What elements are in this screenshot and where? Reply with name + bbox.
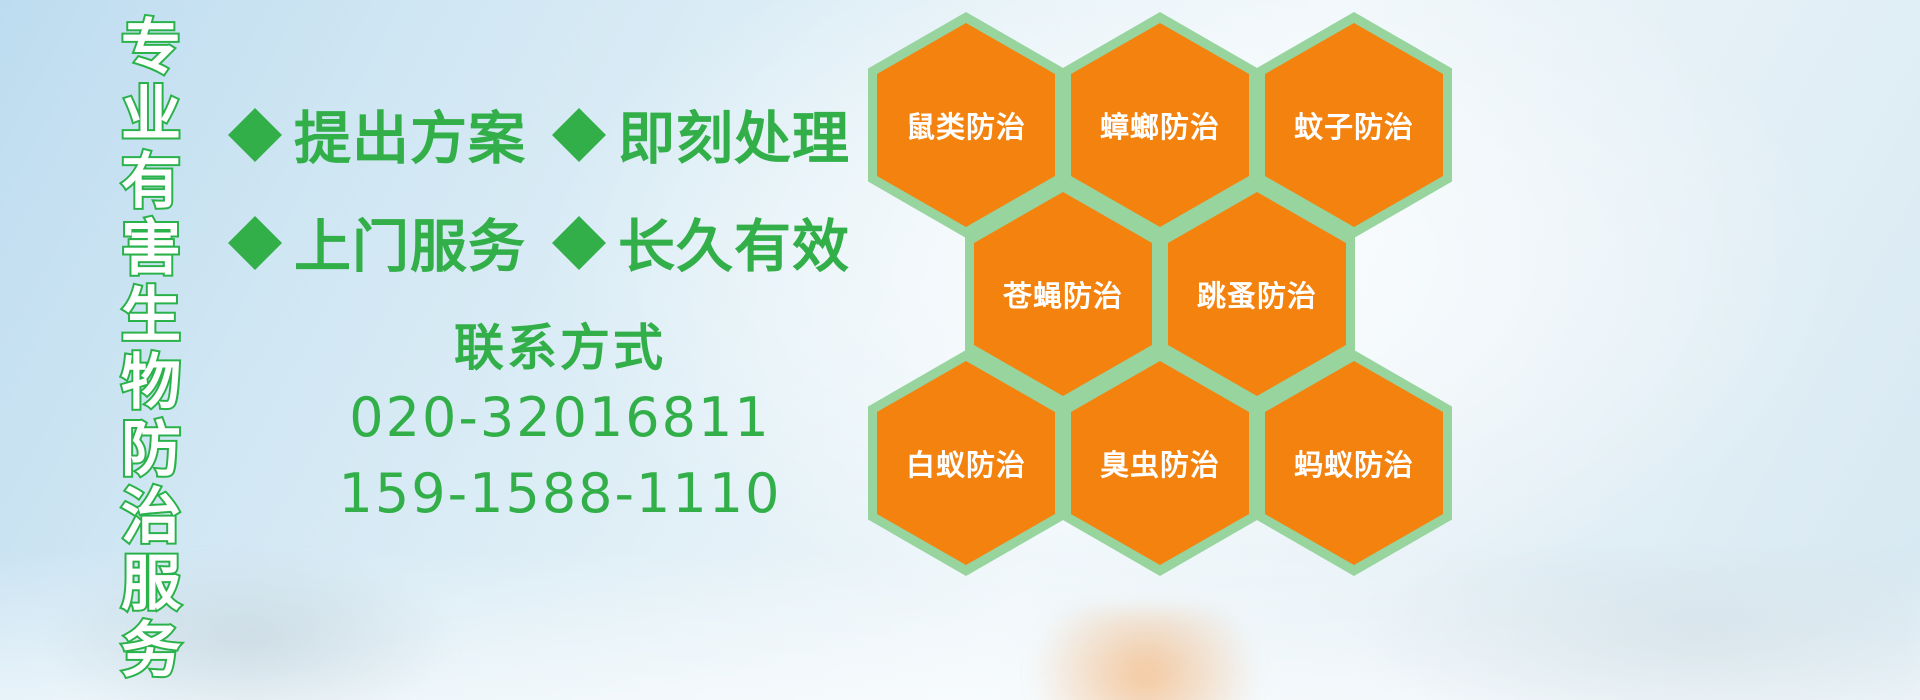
vertical-title-char: 物 <box>121 349 181 416</box>
vertical-title-char: 害 <box>121 215 181 282</box>
vertical-title-char: 专 <box>121 14 181 81</box>
feature-item-immediate-handling: 即刻处理 <box>552 93 850 175</box>
hex-cell-bedbug-control[interactable]: 臭虫防治 <box>1062 350 1258 576</box>
feature-label: 提出方案 <box>294 93 526 175</box>
phone-landline[interactable]: 020-32016811 <box>300 380 820 456</box>
contact-block: 联系方式 020-32016811 159-1588-1110 <box>300 316 820 532</box>
diamond-bullet-icon <box>552 81 606 135</box>
vertical-title-char: 防 <box>121 416 181 483</box>
hex-label: 蚂蚁防治 <box>1256 350 1452 576</box>
hex-label: 臭虫防治 <box>1062 350 1258 576</box>
service-honeycomb: 鼠类防治 蟑螂防治 蚊子防治 苍蝇防治 跳蚤防治 白蚁防治 <box>862 6 1462 566</box>
vertical-title-char: 务 <box>121 617 181 684</box>
feature-row: 上门服务 长久有效 <box>228 188 868 296</box>
hex-cell-termite-control[interactable]: 白蚁防治 <box>868 350 1064 576</box>
feature-item-onsite-service: 上门服务 <box>228 201 526 283</box>
hex-cell-ant-control[interactable]: 蚂蚁防治 <box>1256 350 1452 576</box>
background-blur-left <box>40 550 460 700</box>
feature-label: 长久有效 <box>618 201 850 283</box>
feature-item-long-lasting: 长久有效 <box>552 201 850 283</box>
vertical-title-char: 业 <box>121 81 181 148</box>
diamond-bullet-icon <box>228 189 282 243</box>
feature-row: 提出方案 即刻处理 <box>228 80 868 188</box>
vertical-title-char: 生 <box>121 282 181 349</box>
vertical-title-char: 治 <box>121 483 181 550</box>
vertical-title-char: 服 <box>121 550 181 617</box>
feature-label: 即刻处理 <box>618 93 850 175</box>
feature-label: 上门服务 <box>294 201 526 283</box>
background-blur-right <box>1360 560 1920 700</box>
diamond-bullet-icon <box>552 189 606 243</box>
background-blur-orange <box>1030 610 1260 700</box>
vertical-title: 专 业 有 害 生 物 防 治 服 务 <box>108 14 194 554</box>
promo-banner: 专 业 有 害 生 物 防 治 服 务 提出方案 即刻处理 上门服务 <box>0 0 1920 700</box>
phone-mobile[interactable]: 159-1588-1110 <box>300 456 820 532</box>
diamond-bullet-icon <box>228 81 282 135</box>
feature-item-propose-plan: 提出方案 <box>228 93 526 175</box>
contact-heading: 联系方式 <box>300 316 820 380</box>
vertical-title-char: 有 <box>121 148 181 215</box>
hex-label: 白蚁防治 <box>868 350 1064 576</box>
feature-list: 提出方案 即刻处理 上门服务 长久有效 <box>228 80 868 296</box>
